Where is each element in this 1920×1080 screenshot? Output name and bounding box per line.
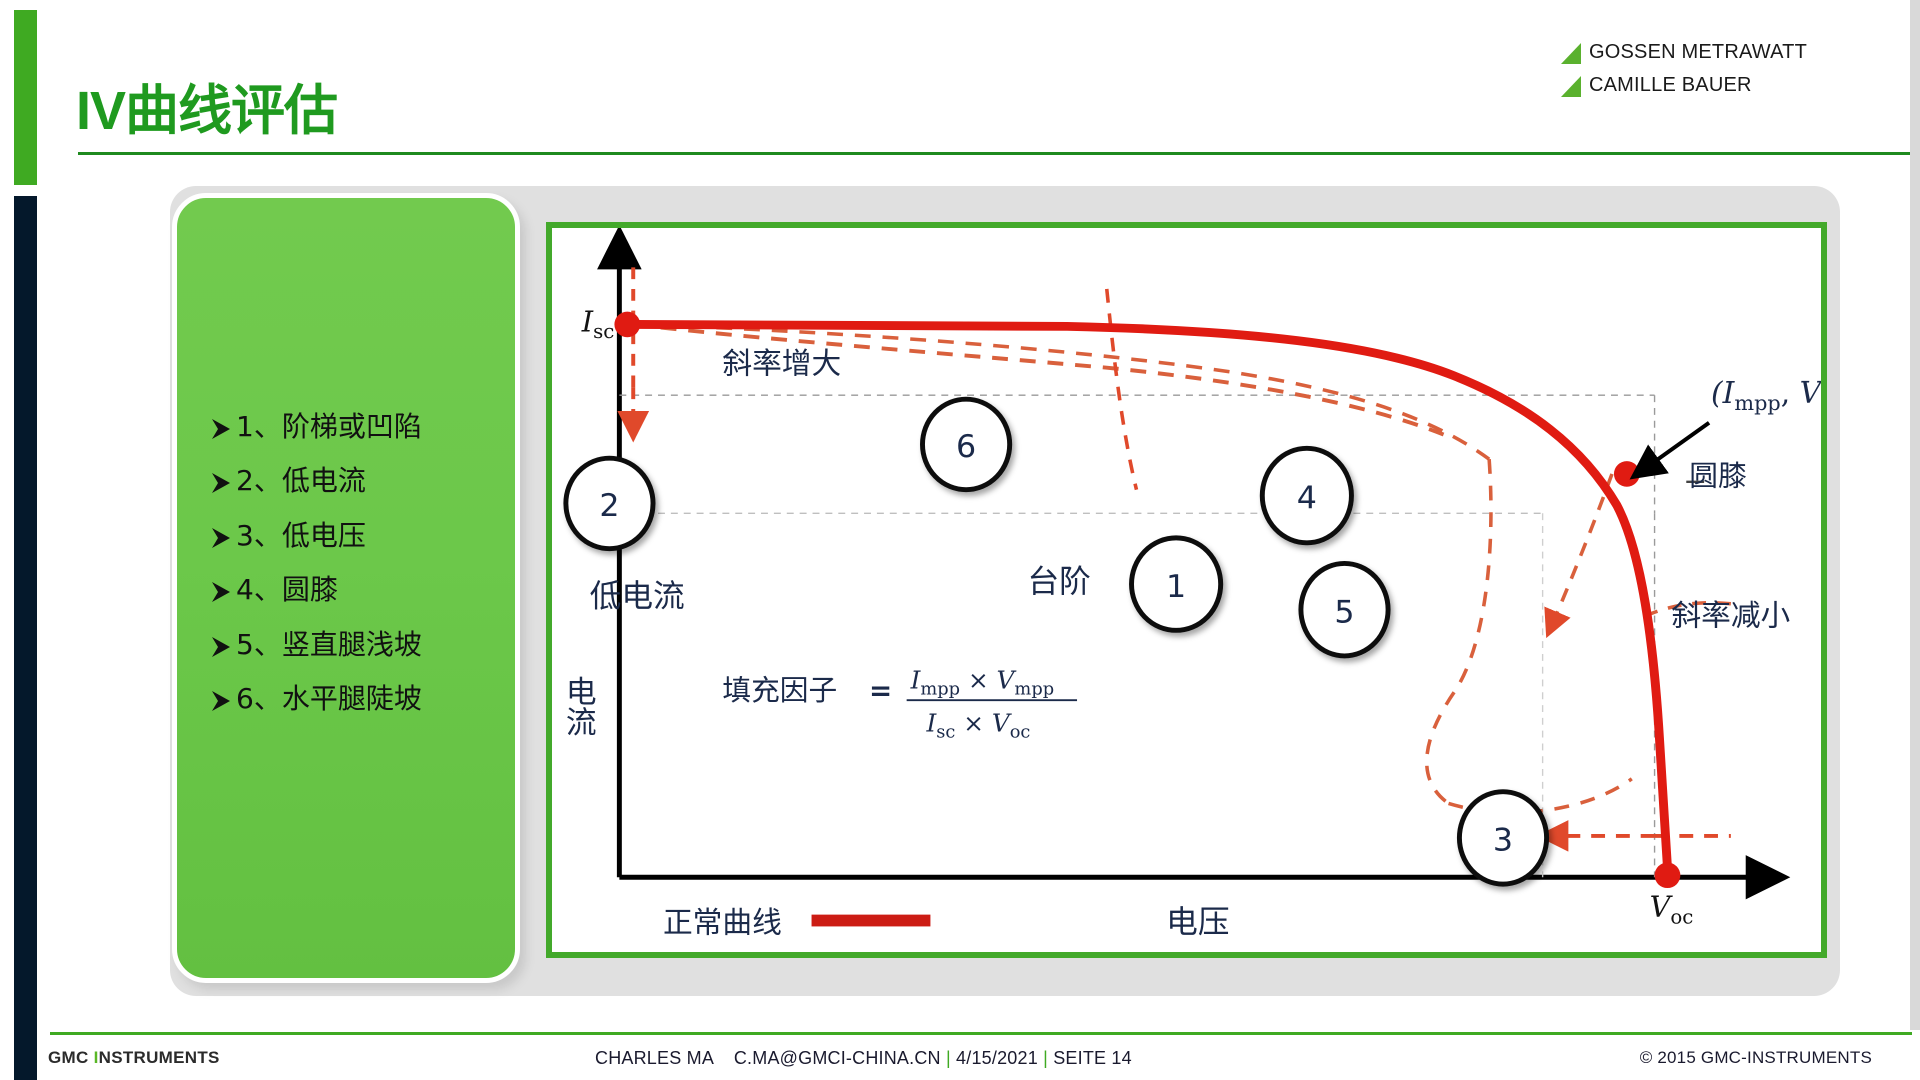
callout-bubble-6[interactable]: 6 <box>922 399 1009 490</box>
arrow-bullet-icon <box>210 470 232 496</box>
list-item[interactable]: 5、竖直腿浅坡 <box>210 630 510 659</box>
logo-row-gossen: GOSSEN METRAWATT <box>1558 36 1858 69</box>
page-title: IV曲线评估 <box>76 84 337 138</box>
isc-label: Isc <box>581 304 615 343</box>
voc-marker-dot <box>1655 862 1681 888</box>
callout-label: 1 <box>1166 569 1186 605</box>
logo-text-gossen: GOSSEN METRAWATT <box>1589 41 1807 64</box>
mpp-label: (Impp, Vmpp) <box>1711 376 1821 415</box>
footer-brand: GMC INSTRUMENTS <box>48 1048 220 1068</box>
list-item-label: 5、竖直腿浅坡 <box>236 630 422 659</box>
list-item[interactable]: 4、圆膝 <box>210 575 510 604</box>
footer-copyright: © 2015 GMC-INSTRUMENTS <box>1640 1048 1872 1068</box>
formula-lhs: 填充因子 <box>722 673 837 707</box>
fault-curve-step-vertical <box>1107 289 1137 490</box>
annotation-low-current: 低电流 <box>590 579 685 615</box>
callout-bubble-4[interactable]: 4 <box>1262 448 1351 542</box>
footer-page: SEITE 14 <box>1053 1048 1132 1068</box>
legend-swatch <box>812 915 931 927</box>
iv-curve-chart: Isc Voc (Impp, Vmpp) 斜率增大 斜率减小 台阶 低电流 圆膝… <box>546 222 1827 958</box>
footer-brand-a: GMC <box>48 1048 94 1067</box>
list-item[interactable]: 1、阶梯或凹陷 <box>210 412 510 441</box>
footer-date: 4/15/2021 <box>956 1048 1038 1068</box>
list-item-label: 6、水平腿陡坡 <box>236 684 422 713</box>
formula-numerator: Impp × Vmpp <box>910 665 1055 699</box>
footer-author: CHARLES MA <box>595 1048 713 1068</box>
arrow-bullet-icon <box>210 634 232 660</box>
green-triangle-icon <box>1558 40 1584 66</box>
fault-curve-step-drop <box>1427 459 1491 803</box>
list-item[interactable]: 2、低电流 <box>210 466 510 495</box>
callout-bubble-1[interactable]: 1 <box>1132 538 1221 630</box>
footer-meta: CHARLES MA C.MA@GMCI-CHINA.CN | 4/15/202… <box>595 1048 1132 1069</box>
callout-label: 2 <box>599 488 619 524</box>
footer-email: C.MA@GMCI-CHINA.CN <box>734 1048 941 1068</box>
annotation-step: 台阶 <box>1028 564 1091 600</box>
footer-separator: | <box>946 1048 951 1068</box>
footer-brand-c: NSTRUMENTS <box>99 1048 220 1067</box>
right-edge-strip <box>1910 0 1920 1030</box>
footer-separator: | <box>1043 1048 1048 1068</box>
callout-label: 3 <box>1493 823 1513 859</box>
logo-row-camille: CAMILLE BAUER <box>1558 69 1858 102</box>
list-item-label: 3、低电压 <box>236 521 366 550</box>
y-axis-title: 电流 <box>560 676 595 737</box>
isc-marker-dot <box>614 312 640 338</box>
logo-text-camille: CAMILLE BAUER <box>1589 74 1752 97</box>
x-axis-title: 电压 <box>1166 904 1229 940</box>
annotation-slope-increase: 斜率增大 <box>722 347 841 381</box>
arrow-bullet-icon <box>210 579 232 605</box>
list-item-label: 4、圆膝 <box>236 575 338 604</box>
mpp-marker-dot <box>1614 461 1640 487</box>
list-item[interactable]: 6、水平腿陡坡 <box>210 684 510 713</box>
formula-denominator: Isc × Voc <box>925 709 1030 743</box>
legend-label: 正常曲线 <box>663 905 782 939</box>
list-item[interactable]: 3、低电压 <box>210 521 510 550</box>
arrow-bullet-icon <box>210 688 232 714</box>
list-item-label: 1、阶梯或凹陷 <box>236 412 422 441</box>
title-underline <box>78 152 1910 155</box>
fault-list: 1、阶梯或凹陷 2、低电流 3、低电压 4、圆膝 5、竖直腿浅坡 6、水平腿陡坡 <box>210 412 510 738</box>
callout-label: 6 <box>956 429 976 465</box>
callout-label: 4 <box>1297 480 1317 516</box>
fault-curve-shallow-slope-arrow <box>1553 474 1612 624</box>
annotation-round-knee: 圆膝 <box>1689 459 1746 493</box>
brand-logo: GOSSEN METRAWATT CAMILLE BAUER <box>1558 36 1858 102</box>
iv-curve-svg: Isc Voc (Impp, Vmpp) 斜率增大 斜率减小 台阶 低电流 圆膝… <box>552 228 1821 952</box>
callout-bubble-2[interactable]: 2 <box>566 458 653 549</box>
footer-divider <box>50 1032 1912 1035</box>
callout-bubble-3[interactable]: 3 <box>1459 792 1546 884</box>
arrow-bullet-icon <box>210 416 232 442</box>
fault-curve-sloped <box>633 324 1489 459</box>
arrow-bullet-icon <box>210 525 232 551</box>
left-accent-bar-navy <box>14 196 37 1080</box>
callout-bubble-5[interactable]: 5 <box>1301 563 1388 655</box>
left-accent-bar-green <box>14 10 37 185</box>
callout-label: 5 <box>1334 595 1354 631</box>
voc-label: Voc <box>1650 890 1694 929</box>
chart-legend: 正常曲线 <box>663 905 930 939</box>
formula-equals: = <box>869 674 892 707</box>
list-item-label: 2、低电流 <box>236 466 366 495</box>
annotation-slope-decrease: 斜率减小 <box>1671 599 1790 633</box>
green-triangle-icon <box>1558 73 1584 99</box>
fill-factor-formula: 填充因子 = Impp × Vmpp Isc × Voc <box>722 665 1077 742</box>
